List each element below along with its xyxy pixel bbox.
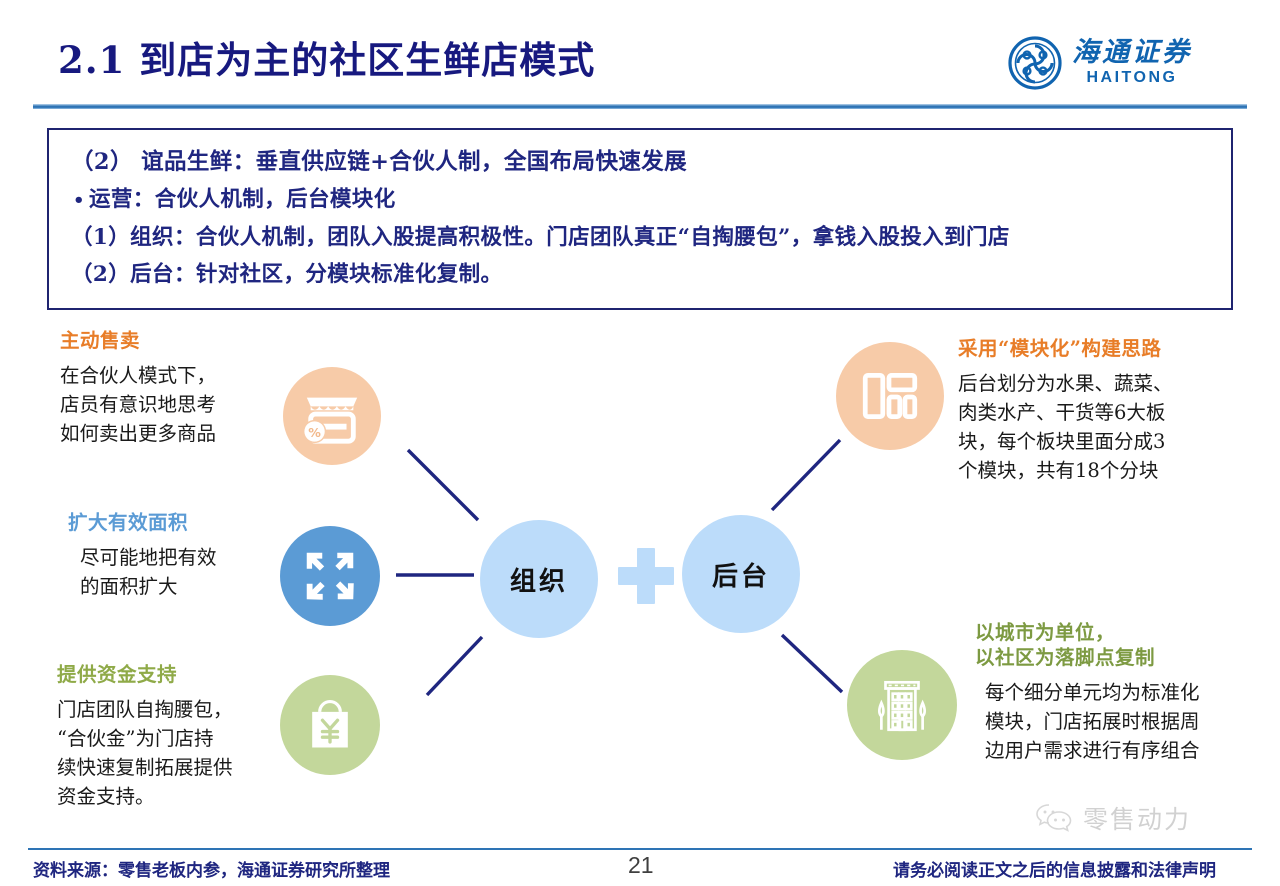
icon-circle-building (847, 650, 957, 760)
center-node-backend: 后台 (682, 515, 800, 633)
plus-icon-vertical-bar (637, 548, 655, 604)
logo-english-name: HAITONG (1087, 68, 1178, 87)
right-block-1-body: 后台划分为水果、蔬菜、 肉类水产、干货等6大板 块，每个板块里面分成3 个模块，… (958, 369, 1238, 485)
callout-line-4: （2）后台：针对社区，分模块标准化复制。 (71, 256, 1209, 293)
callout-box: （2） 谊品生鲜：垂直供应链+合伙人制，全国布局快速发展 •运营：合伙人机制，后… (47, 128, 1233, 310)
watermark: 零售动力 (1035, 800, 1191, 836)
icon-circle-expand (280, 526, 380, 626)
callout-line-3: （1）组织：合伙人机制，团队入股提高积极性。门店团队真正“自掏腰包”，拿钱入股投… (71, 219, 1209, 256)
left-block-1: 主动售卖 在合伙人模式下， 店员有意识地思考 如何卖出更多商品 (60, 328, 285, 448)
left-block-3-heading: 提供资金支持 (57, 662, 285, 687)
watermark-text: 零售动力 (1083, 800, 1191, 836)
building-trees-icon (869, 672, 935, 738)
left-block-2-heading: 扩大有效面积 (68, 510, 283, 535)
right-block-2-body: 每个细分单元均为标准化 模块，门店拓展时根据周 边用户需求进行有序组合 (975, 678, 1245, 765)
dashboard-layout-icon (857, 363, 923, 429)
shopping-bag-yuan-icon (300, 695, 360, 755)
center-node-organization: 组织 (480, 520, 598, 638)
left-block-3: 提供资金支持 门店团队自掏腰包， “合伙金”为门店持 续快速复制拓展提供 资金支… (57, 662, 285, 811)
logo-chinese-name: 海通证券 (1072, 39, 1192, 67)
icon-circle-storefront: % (283, 367, 381, 465)
haitong-seal-icon (1008, 36, 1062, 90)
right-block-1: 采用“模块化”构建思路 后台划分为水果、蔬菜、 肉类水产、干货等6大板 块，每个… (958, 336, 1238, 485)
center-node-organization-label: 组织 (510, 561, 568, 598)
right-block-2-heading: 以城市为单位， 以社区为落脚点复制 (975, 620, 1245, 670)
callout-line-2: •运营：合伙人机制，后台模块化 (71, 181, 1209, 219)
bullet-icon: • (73, 182, 89, 219)
icon-circle-shopping-bag (280, 675, 380, 775)
left-block-3-body: 门店团队自掏腰包， “合伙金”为门店持 续快速复制拓展提供 资金支持。 (57, 695, 285, 811)
wechat-icon (1035, 802, 1075, 834)
icon-circle-dashboard (836, 342, 944, 450)
plus-icon (618, 548, 674, 604)
callout-line-1: （2） 谊品生鲜：垂直供应链+合伙人制，全国布局快速发展 (71, 144, 1209, 181)
page-title: 2.1 到店为主的社区生鲜店模式 (58, 30, 595, 84)
left-block-2-body: 尽可能地把有效 的面积扩大 (68, 543, 283, 601)
right-block-1-heading: 采用“模块化”构建思路 (958, 336, 1238, 361)
slide-canvas: 2.1 到店为主的社区生鲜店模式 海通证券 HAITONG （2） 谊品生鲜：垂… (0, 0, 1280, 886)
left-block-1-heading: 主动售卖 (60, 328, 285, 353)
logo-wordmark: 海通证券 HAITONG (1072, 39, 1192, 87)
page-number: 21 (628, 852, 654, 879)
disclaimer-note: 请务必阅读正文之后的信息披露和法律声明 (893, 856, 1216, 881)
header-divider (33, 104, 1247, 109)
callout-line-2-text: 运营：合伙人机制，后台模块化 (89, 187, 396, 212)
right-block-2: 以城市为单位， 以社区为落脚点复制 每个细分单元均为标准化 模块，门店拓展时根据… (975, 620, 1245, 765)
svg-text:%: % (308, 425, 321, 440)
footer-divider (28, 848, 1252, 850)
source-note: 资料来源：零售老板内参，海通证券研究所整理 (33, 856, 390, 881)
storefront-discount-icon: % (301, 385, 363, 447)
company-logo: 海通证券 HAITONG (1008, 32, 1240, 94)
left-block-2: 扩大有效面积 尽可能地把有效 的面积扩大 (68, 510, 283, 601)
left-block-1-body: 在合伙人模式下， 店员有意识地思考 如何卖出更多商品 (60, 361, 285, 448)
expand-arrows-icon (299, 545, 361, 607)
diagram: 主动售卖 在合伙人模式下， 店员有意识地思考 如何卖出更多商品 % 扩大有效面积… (0, 310, 1280, 840)
center-node-backend-label: 后台 (712, 556, 770, 593)
